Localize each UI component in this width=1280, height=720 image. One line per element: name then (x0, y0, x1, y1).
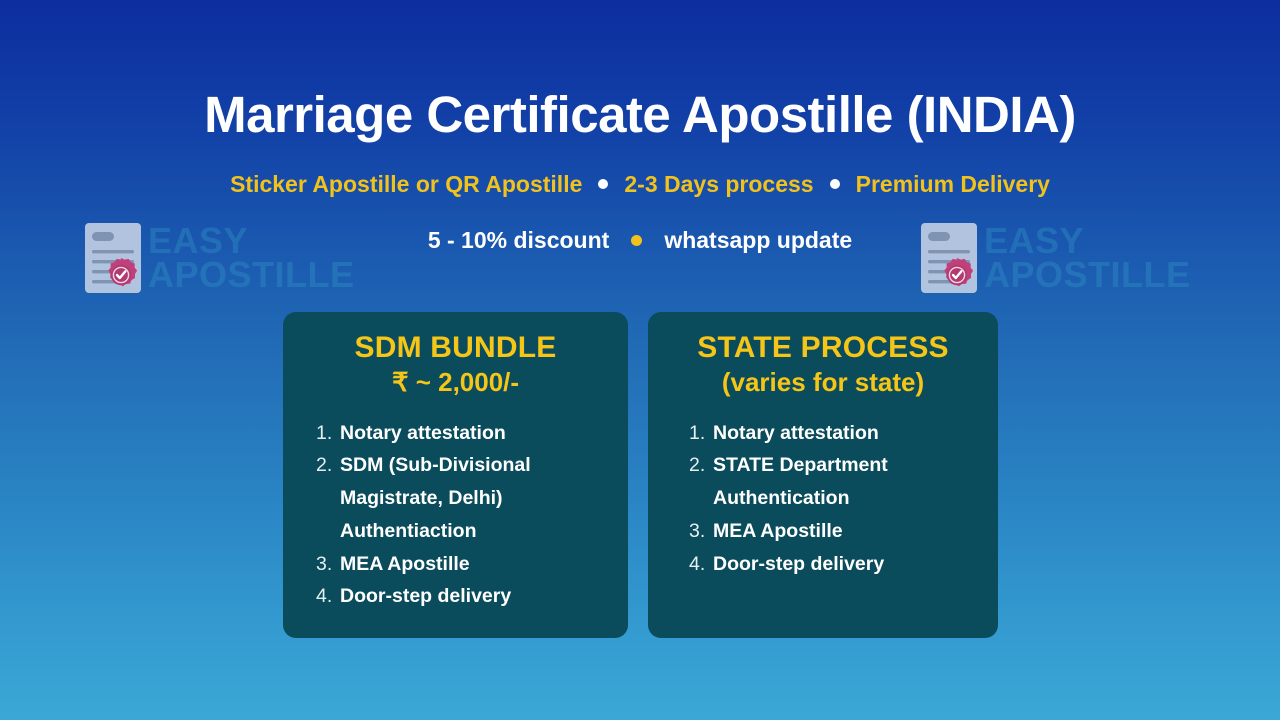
list-item-label: Notary attestation (340, 417, 506, 450)
list-item-number: 4. (689, 548, 713, 581)
subtitle-item-whatsapp-update: whatsapp update (664, 228, 852, 253)
card-step-list: 1. Notary attestation 2. STATE Departmen… (664, 417, 982, 581)
subtitle-line-1: Sticker Apostille or QR Apostille 2-3 Da… (0, 172, 1280, 197)
list-item-number: 1. (316, 417, 340, 450)
subtitle-item-discount: 5 - 10% discount (428, 228, 609, 253)
list-item-label: MEA Apostille (713, 515, 843, 548)
header: Marriage Certificate Apostille (INDIA) S… (0, 0, 1280, 253)
list-item: 1. Notary attestation (316, 417, 612, 450)
list-item: 1. Notary attestation (689, 417, 982, 450)
subtitle-item-premium-delivery: Premium Delivery (856, 172, 1050, 197)
list-item-label: Door-step delivery (340, 580, 511, 613)
list-item-number: 3. (316, 548, 340, 581)
page-title: Marriage Certificate Apostille (INDIA) (0, 88, 1280, 142)
separator-dot-icon (830, 179, 840, 189)
subtitle-item-days-process: 2-3 Days process (624, 172, 813, 197)
list-item-number: 1. (689, 417, 713, 450)
list-item: 3. MEA Apostille (316, 548, 612, 581)
list-item-label: STATE Department Authentication (713, 449, 982, 515)
list-item: 2. STATE Department Authentication (689, 449, 982, 515)
list-item-number: 2. (316, 449, 340, 482)
list-item-label: Notary attestation (713, 417, 879, 450)
card-step-list: 1. Notary attestation 2. SDM (Sub-Divisi… (299, 417, 612, 614)
watermark-brand-line-2: APOSTILLE (984, 258, 1191, 292)
list-item: 4. Door-step delivery (689, 548, 982, 581)
list-item: 3. MEA Apostille (689, 515, 982, 548)
card-title: SDM BUNDLE (299, 330, 612, 365)
card-price: (varies for state) (664, 367, 982, 398)
list-item-number: 2. (689, 449, 713, 482)
separator-dot-icon (631, 235, 642, 246)
card-price: ₹ ~ 2,000/- (299, 367, 612, 398)
list-item-number: 3. (689, 515, 713, 548)
list-item: 2. SDM (Sub-Divisional Magistrate, Delhi… (316, 449, 612, 547)
list-item: 4. Door-step delivery (316, 580, 612, 613)
card-state-process[interactable]: STATE PROCESS (varies for state) 1. Nota… (648, 312, 998, 638)
list-item-label: Door-step delivery (713, 548, 884, 581)
watermark-brand-line-2: APOSTILLE (148, 258, 355, 292)
pricing-cards: SDM BUNDLE ₹ ~ 2,000/- 1. Notary attesta… (283, 312, 998, 638)
subtitle-line-2: 5 - 10% discount whatsapp update (0, 228, 1280, 253)
list-item-label: MEA Apostille (340, 548, 470, 581)
card-sdm-bundle[interactable]: SDM BUNDLE ₹ ~ 2,000/- 1. Notary attesta… (283, 312, 628, 638)
subtitle-item-sticker-apostille: Sticker Apostille or QR Apostille (230, 172, 582, 197)
separator-dot-icon (598, 179, 608, 189)
card-title: STATE PROCESS (664, 330, 982, 365)
list-item-number: 4. (316, 580, 340, 613)
list-item-label: SDM (Sub-Divisional Magistrate, Delhi) A… (340, 449, 612, 547)
